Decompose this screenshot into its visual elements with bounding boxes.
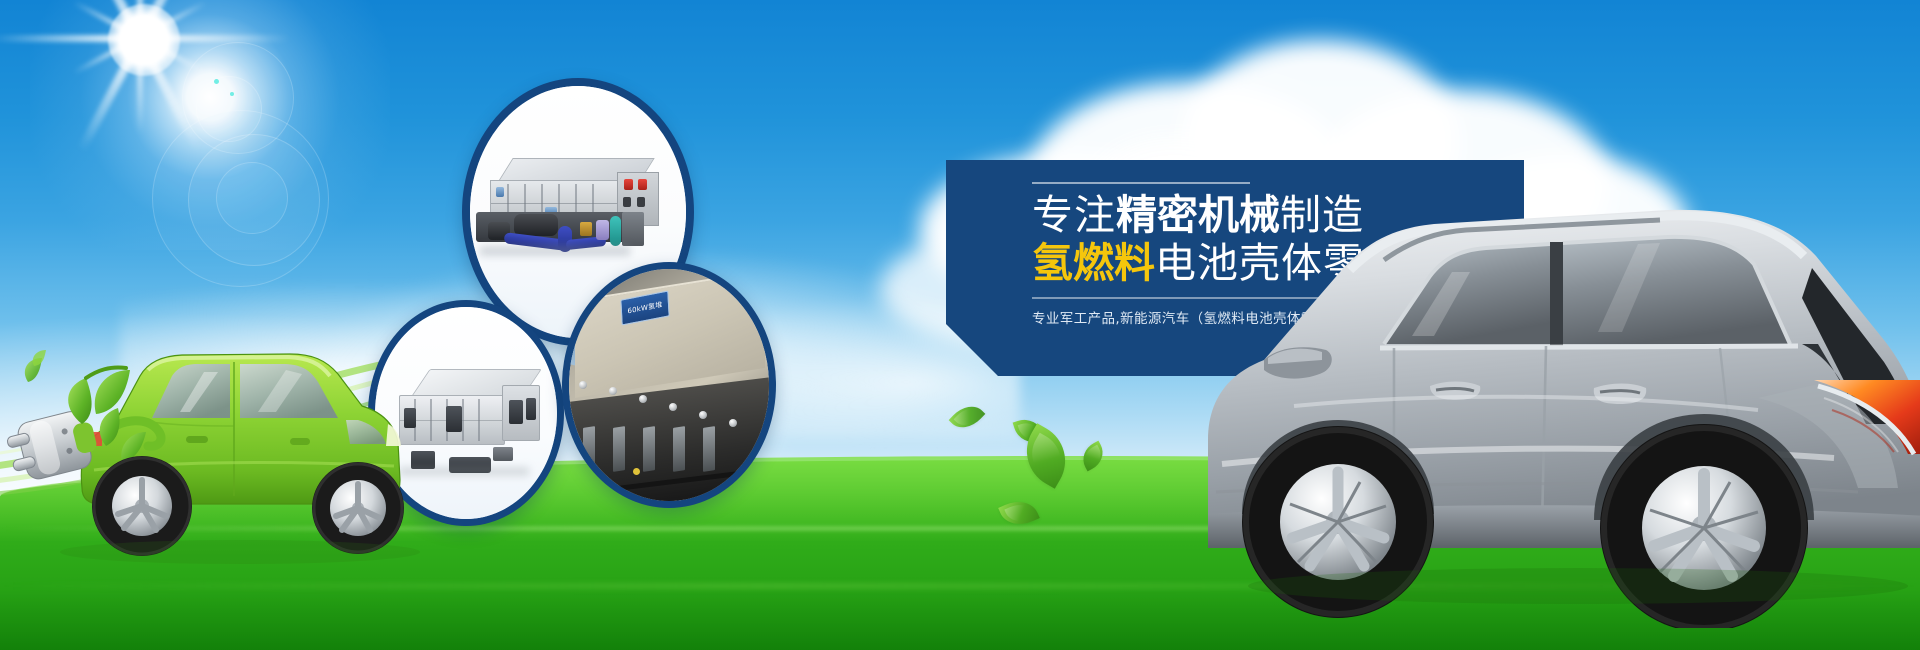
lens-flare-dot <box>230 92 234 96</box>
headline-lead: 专注 <box>1032 191 1116 239</box>
production-photo: 60kW氢堆 <box>569 269 769 501</box>
silver-suv <box>1198 148 1920 628</box>
circle-production-line[interactable]: 60kW氢堆 <box>562 262 776 508</box>
lens-flare-ring <box>216 162 288 234</box>
hero-banner: 60kW氢堆 专注精密机械制造 氢燃料电池壳体零部件 <box>0 0 1920 650</box>
lens-flare-dot <box>214 79 219 84</box>
green-electric-car <box>0 320 420 580</box>
headline-accent: 氢燃料 <box>1032 239 1155 287</box>
